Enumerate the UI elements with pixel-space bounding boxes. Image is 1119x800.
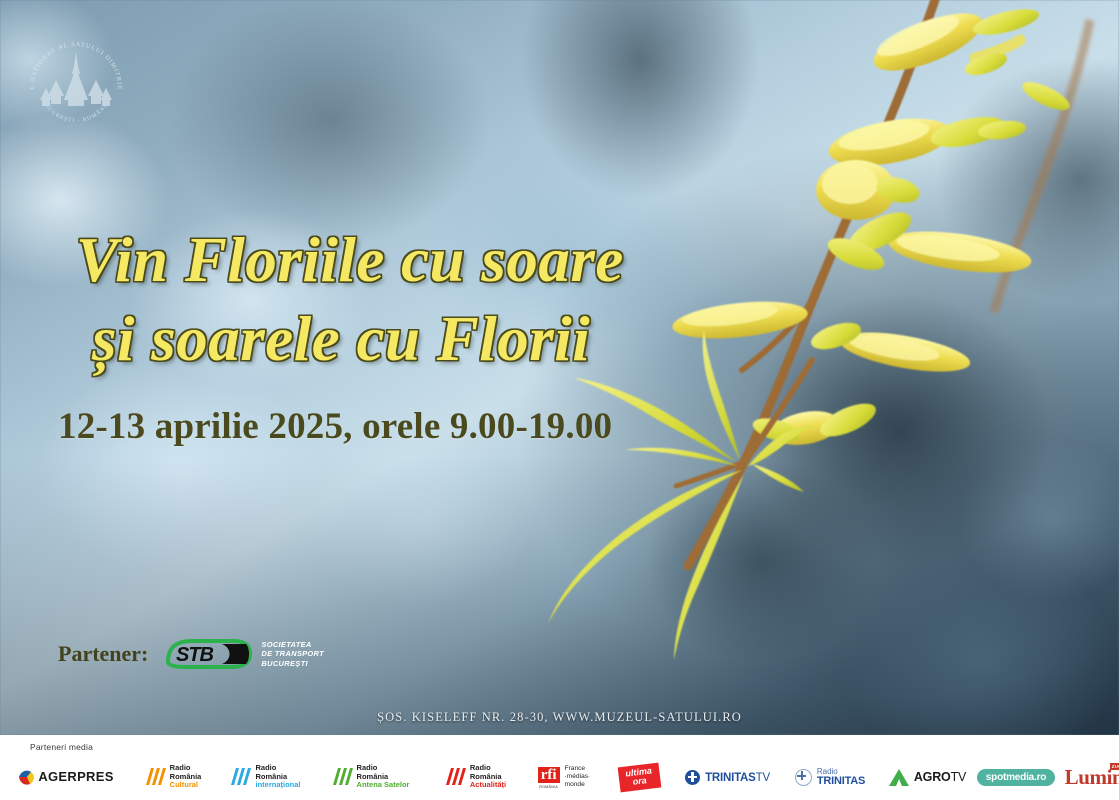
poster-root: MUZEUL NATIONAL AL SATULUI DIMITRIE GUST… <box>0 0 1119 800</box>
agrotv-triangle-icon <box>889 769 909 786</box>
trinitas-cross-icon <box>795 769 812 786</box>
logo-ultima-ora[interactable]: ultima ora <box>603 757 675 797</box>
rfi-sub-2: ·médias· <box>565 773 591 781</box>
radio-romania-bars-icon <box>444 768 466 785</box>
logo-radio-romania-cultural[interactable]: Radio România Cultural <box>130 757 215 797</box>
stb-logo[interactable]: STB SOCIETATEA DE TRANSPORT BUCUREȘTI <box>162 636 324 672</box>
agerpres-label: AGERPRES <box>38 770 113 784</box>
lumina-badge: ZIARUL <box>1110 763 1119 770</box>
radio-romania-bars-icon <box>229 768 251 785</box>
logo-radio-trinitas[interactable]: Radio TRINITAS <box>780 757 880 797</box>
logo-agerpres[interactable]: AGERPRES <box>0 757 130 797</box>
logo-radio-romania-antena-satelor[interactable]: Radio România Antena Satelor <box>315 757 425 797</box>
trinitas-cross-icon <box>685 770 700 785</box>
trinitas-tv-word: TRINITAS <box>705 772 756 784</box>
event-date-time: 12-13 aprilie 2025, orele 9.00-19.00 <box>58 405 612 448</box>
rri-sub: internațional <box>255 781 300 789</box>
rfi-country: ROMÂNIA <box>538 785 560 789</box>
logo-radio-romania-actualitati[interactable]: Radio România Actualități <box>425 757 525 797</box>
stb-line-3: BUCUREȘTI <box>261 659 324 668</box>
logo-rfi[interactable]: rfi ROMÂNIA France ·médias· monde <box>525 757 603 797</box>
stb-logo-mark: STB <box>162 636 254 672</box>
radio-romania-bars-icon <box>144 768 166 785</box>
logo-ziarul-lumina[interactable]: Lumina ZIARUL <box>1057 757 1119 797</box>
partner-section: Partener: STB SOCIETATEA DE TRANSPORT BU… <box>58 636 324 672</box>
agrotv-word: AGRO <box>914 770 951 784</box>
media-partners-bar: Parteneri media AGERPRES <box>0 735 1119 800</box>
rra-sub: Actualități <box>470 781 506 789</box>
stb-logo-text: SOCIETATEA DE TRANSPORT BUCUREȘTI <box>261 640 324 668</box>
media-partner-logos: AGERPRES Radio România Cultural <box>0 757 1119 797</box>
partner-label: Partener: <box>58 641 148 667</box>
rfi-sub-3: monde <box>565 781 591 789</box>
spotmedia-label: spotmedia.ro <box>977 769 1055 786</box>
logo-agrotv[interactable]: AGROTV <box>880 757 975 797</box>
poster-title: Vin Floriile cu soare și soarele cu Flor… <box>62 228 702 372</box>
ultima-ora-mark: ultima ora <box>617 762 660 792</box>
agerpres-icon <box>16 766 38 788</box>
title-line-1: Vin Floriile cu soare <box>62 228 702 293</box>
rras-sub: Antena Satelor <box>357 781 410 789</box>
media-partners-title: Parteneri media <box>30 742 93 752</box>
radio-romania-bars-icon <box>331 768 353 785</box>
trinitas-tv-suffix: TV <box>756 772 770 784</box>
rrc-sub: Cultural <box>170 781 202 789</box>
stb-line-2: DE TRANSPORT <box>261 649 324 658</box>
title-line-2: și soarele cu Florii <box>62 307 702 372</box>
logo-radio-romania-international[interactable]: Radio România internațional <box>215 757 315 797</box>
rfi-sub-1: France <box>565 765 591 773</box>
stb-line-1: SOCIETATEA <box>261 640 324 649</box>
logo-spotmedia[interactable]: spotmedia.ro <box>975 757 1057 797</box>
museum-seal-logo: MUZEUL NATIONAL AL SATULUI DIMITRIE GUST… <box>26 34 126 130</box>
logo-trinitas-tv[interactable]: TRINITASTV <box>675 757 780 797</box>
svg-text:STB: STB <box>176 644 214 666</box>
address-line: ȘOS. KISELEFF NR. 28-30, WWW.MUZEUL-SATU… <box>0 710 1119 725</box>
rfi-mark: rfi <box>538 767 560 783</box>
agrotv-suffix: TV <box>951 770 967 784</box>
radio-trinitas-word: TRINITAS <box>817 776 865 787</box>
